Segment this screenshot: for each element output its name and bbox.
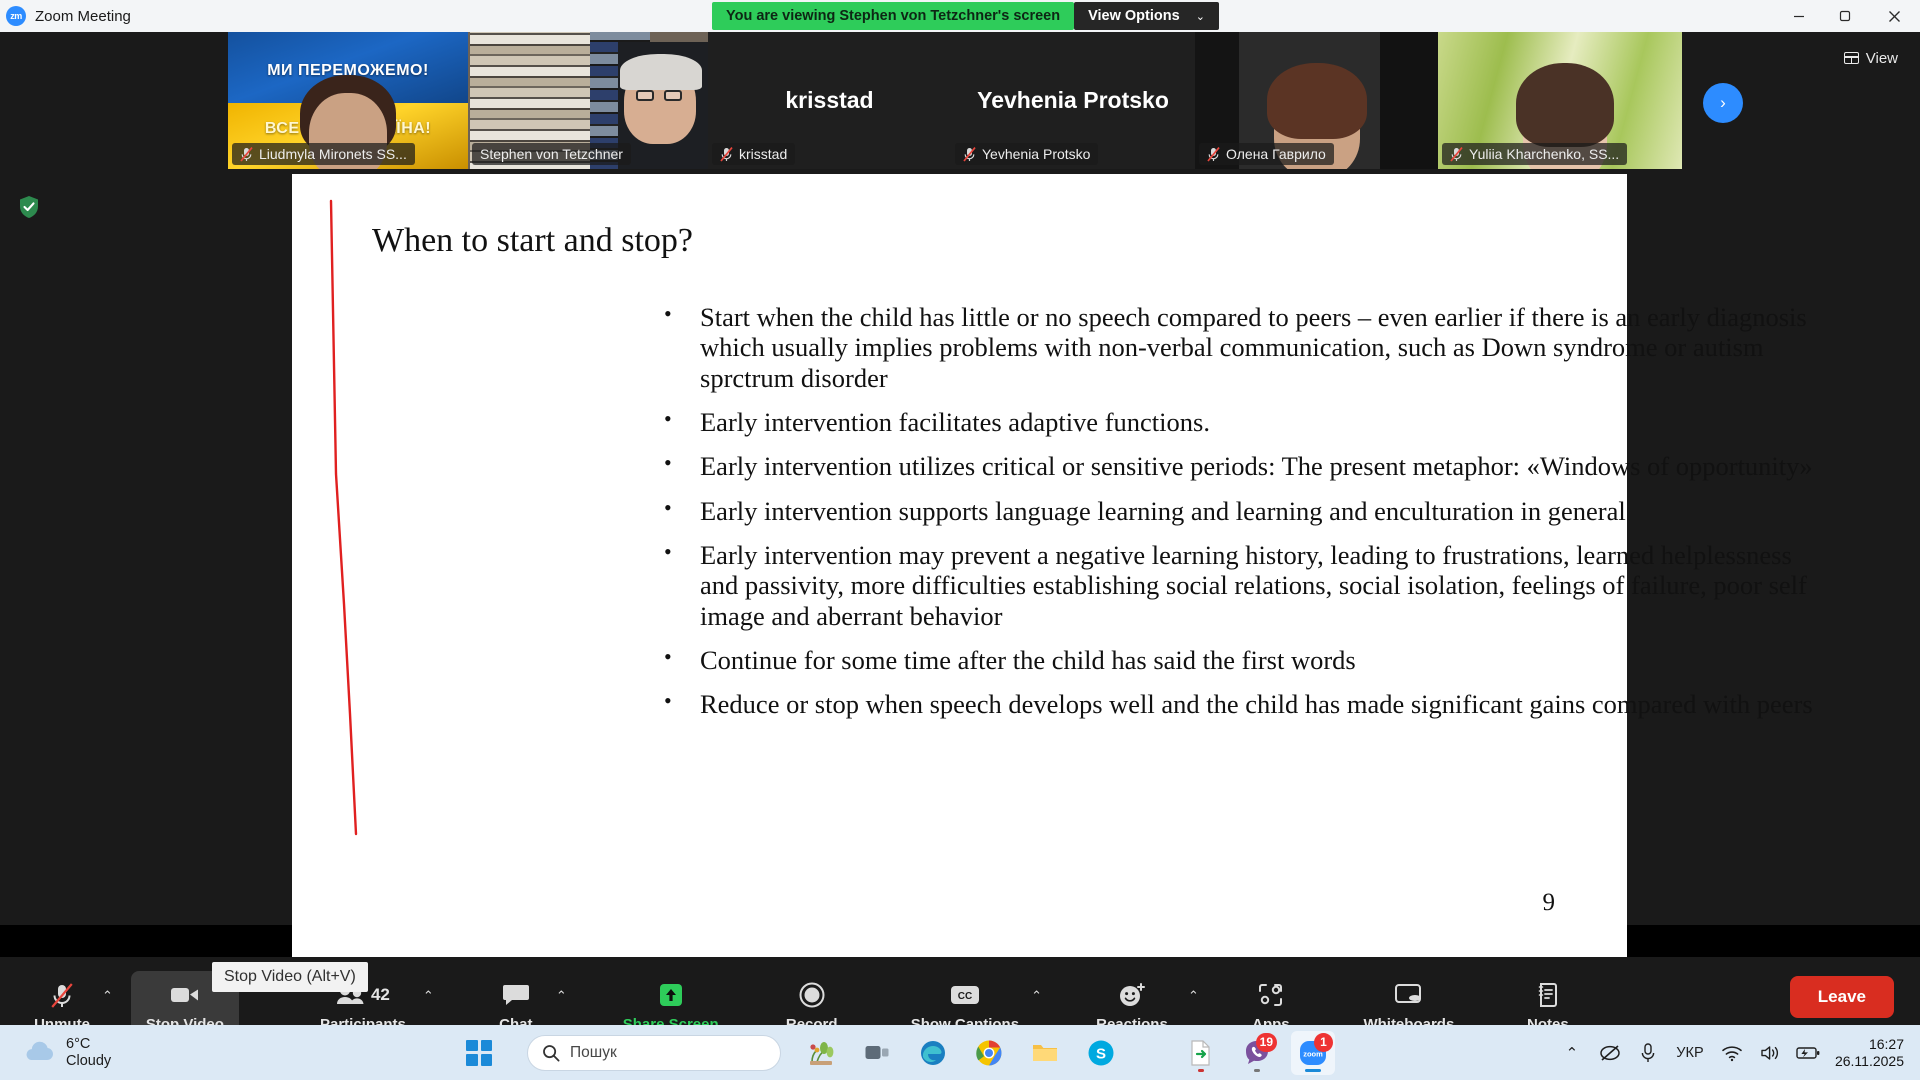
zoom-meeting-window: zm Zoom Meeting You are viewing Stephen … (0, 0, 1920, 1080)
stop-video-tooltip: Stop Video (Alt+V) (212, 962, 368, 992)
clock-time: 16:27 (1835, 1036, 1904, 1053)
search-icon (542, 1044, 560, 1062)
slide-bullet: Early intervention facilitates adaptive … (664, 407, 1814, 437)
svg-text:S: S (1096, 1045, 1106, 1062)
windows-taskbar: 6°C Cloudy Пошук (0, 1025, 1920, 1080)
view-options-button[interactable]: View Options ⌄ (1074, 2, 1219, 30)
weather-condition: Cloudy (66, 1053, 111, 1070)
svg-text:CC: CC (958, 991, 972, 1002)
slide-bullet: Early intervention supports language lea… (664, 496, 1814, 526)
reactions-smiley-icon (1118, 982, 1146, 1009)
zoom-icon[interactable]: zoom 1 (1291, 1031, 1335, 1075)
volume-icon[interactable] (1751, 1033, 1789, 1073)
participant-tile[interactable]: МИ ПЕРЕМОЖЕМО! ВСЕ БУДЕ УКРАЇНА! Liudmyl… (228, 32, 468, 169)
view-button-label: View (1866, 50, 1898, 67)
mic-muted-icon (963, 147, 976, 162)
microphone-muted-icon (49, 982, 75, 1009)
grid-view-icon (1844, 52, 1859, 64)
participant-name: Yevhenia Protsko (982, 146, 1090, 162)
clock-date: 26.11.2025 (1835, 1053, 1904, 1070)
participant-tile[interactable]: Yuliia Kharchenko, SS... (1438, 32, 1682, 169)
meeting-stage: МИ ПЕРЕМОЖЕМО! ВСЕ БУДЕ УКРАЇНА! Liudmyl… (0, 32, 1920, 925)
zoom-logo-icon: zm (6, 6, 26, 26)
share-screen-icon (657, 982, 685, 1009)
wifi-icon[interactable] (1713, 1033, 1751, 1073)
participants-chevron-up-icon[interactable]: ⌃ (423, 988, 434, 1004)
participant-tile[interactable]: krisstad krisstad (708, 32, 951, 169)
closed-caption-icon: CC (949, 982, 981, 1009)
edge-icon[interactable] (911, 1031, 955, 1075)
viber-icon[interactable]: 19 (1235, 1031, 1279, 1075)
mic-muted-icon (1450, 147, 1463, 162)
window-title: Zoom Meeting (35, 8, 131, 25)
window-controls (1776, 0, 1920, 32)
chat-chevron-up-icon[interactable]: ⌃ (556, 988, 567, 1004)
taskbar-weather-widget[interactable]: 6°C Cloudy (22, 1036, 111, 1069)
tray-overflow-chevron-up-icon[interactable]: ⌃ (1553, 1033, 1591, 1073)
encryption-shield-icon[interactable] (18, 195, 40, 219)
view-options-label: View Options (1088, 8, 1180, 24)
task-view-icon[interactable] (855, 1031, 899, 1075)
notification-badge: 19 (1256, 1033, 1277, 1052)
taskbar-center-group: Пошук (455, 1031, 1337, 1075)
slide-bullet: Early intervention may prevent a negativ… (664, 540, 1814, 631)
participant-name: Liudmyla Mironets SS... (259, 146, 407, 162)
zoom-logo-text: zm (10, 11, 22, 21)
slide-bullet: Continue for some time after the child h… (664, 645, 1814, 675)
share-status-banner: You are viewing Stephen von Tetzchner's … (712, 2, 1074, 30)
chevron-right-icon: › (1720, 93, 1726, 113)
system-tray: ⌃ УКР (1553, 1033, 1920, 1073)
notes-icon (1536, 982, 1560, 1009)
view-button[interactable]: View (1836, 44, 1906, 72)
slide-title: When to start and stop? (372, 222, 693, 260)
participant-initial-name: krisstad (785, 87, 873, 114)
export-file-icon[interactable] (1179, 1031, 1223, 1075)
slide-bullet: Reduce or stop when speech develops well… (664, 689, 1814, 719)
participant-name: Stephen von Tetzchner (480, 146, 623, 162)
mic-muted-icon (240, 147, 253, 162)
tray-language-indicator[interactable]: УКР (1667, 1033, 1713, 1073)
shared-screen-slide[interactable]: When to start and stop? Start when the c… (292, 174, 1627, 959)
record-icon (799, 982, 825, 1009)
participant-namebar: Liudmyla Mironets SS... (232, 143, 415, 165)
running-indicator (1254, 1069, 1260, 1072)
share-status-group: You are viewing Stephen von Tetzchner's … (712, 0, 1219, 32)
slide-page-number: 9 (1543, 889, 1556, 917)
video-letterbox (1380, 32, 1438, 169)
participant-tile[interactable]: Олена Гаврило (1195, 32, 1438, 169)
participant-filmstrip: МИ ПЕРЕМОЖЕМО! ВСЕ БУДЕ УКРАЇНА! Liudmyl… (228, 32, 1698, 169)
whiteboard-icon (1394, 982, 1424, 1009)
audio-options-chevron-up-icon[interactable]: ⌃ (102, 988, 113, 1004)
captions-chevron-up-icon[interactable]: ⌃ (1031, 988, 1042, 1004)
cloud-icon (22, 1041, 56, 1065)
mic-muted-icon (1207, 147, 1220, 162)
chat-bubble-icon (502, 982, 530, 1009)
close-icon[interactable] (1868, 0, 1920, 32)
reactions-chevron-up-icon[interactable]: ⌃ (1188, 988, 1199, 1004)
maximize-icon[interactable] (1822, 0, 1868, 32)
microphone-icon[interactable] (1629, 1033, 1667, 1073)
video-camera-icon (170, 982, 200, 1009)
chrome-icon[interactable] (967, 1031, 1011, 1075)
participant-name: Олена Гаврило (1226, 146, 1326, 162)
avatar-hair (1516, 63, 1614, 147)
participant-tile[interactable]: Stephen von Tetzchner (468, 32, 708, 169)
participant-name: krisstad (739, 146, 787, 162)
participant-namebar: Yevhenia Protsko (955, 143, 1098, 165)
slide-bullet-list: Start when the child has little or no sp… (664, 302, 1814, 734)
participant-namebar: krisstad (712, 143, 795, 165)
widgets-plant-icon[interactable] (799, 1031, 843, 1075)
taskbar-search-box[interactable]: Пошук (527, 1035, 781, 1071)
apps-icon (1257, 982, 1284, 1009)
search-placeholder: Пошук (570, 1044, 617, 1062)
participant-namebar: Олена Гаврило (1199, 143, 1334, 165)
windows-start-icon[interactable] (457, 1031, 501, 1075)
weather-temperature: 6°C (66, 1036, 111, 1053)
battery-icon[interactable] (1789, 1033, 1827, 1073)
notification-badge: 1 (1314, 1033, 1333, 1052)
participants-count: 42 (371, 985, 390, 1005)
slide-bullet: Start when the child has little or no sp… (664, 302, 1814, 393)
file-explorer-icon[interactable] (1023, 1031, 1067, 1075)
running-indicator (1198, 1069, 1204, 1072)
participant-namebar: Stephen von Tetzchner (472, 143, 631, 165)
avatar-hair (1267, 63, 1367, 139)
taskbar-clock[interactable]: 16:27 26.11.2025 (1835, 1036, 1904, 1070)
participant-namebar: Yuliia Kharchenko, SS... (1442, 143, 1627, 165)
skype-icon[interactable]: S (1079, 1031, 1123, 1075)
hidden-notifications-icon[interactable] (1591, 1033, 1629, 1073)
chevron-down-icon: ⌄ (1196, 10, 1205, 23)
participant-initial-name: Yevhenia Protsko (977, 87, 1169, 114)
minimize-icon[interactable] (1776, 0, 1822, 32)
running-indicator (1305, 1069, 1321, 1072)
window-titlebar: zm Zoom Meeting You are viewing Stephen … (0, 0, 1920, 32)
mic-muted-icon (720, 147, 733, 162)
participant-name: Yuliia Kharchenko, SS... (1469, 146, 1619, 162)
participant-tile[interactable]: Yevhenia Protsko Yevhenia Protsko (951, 32, 1195, 169)
filmstrip-next-button[interactable]: › (1703, 83, 1743, 123)
slide-bullet: Early intervention utilizes critical or … (664, 451, 1814, 481)
leave-button[interactable]: Leave (1790, 976, 1894, 1018)
